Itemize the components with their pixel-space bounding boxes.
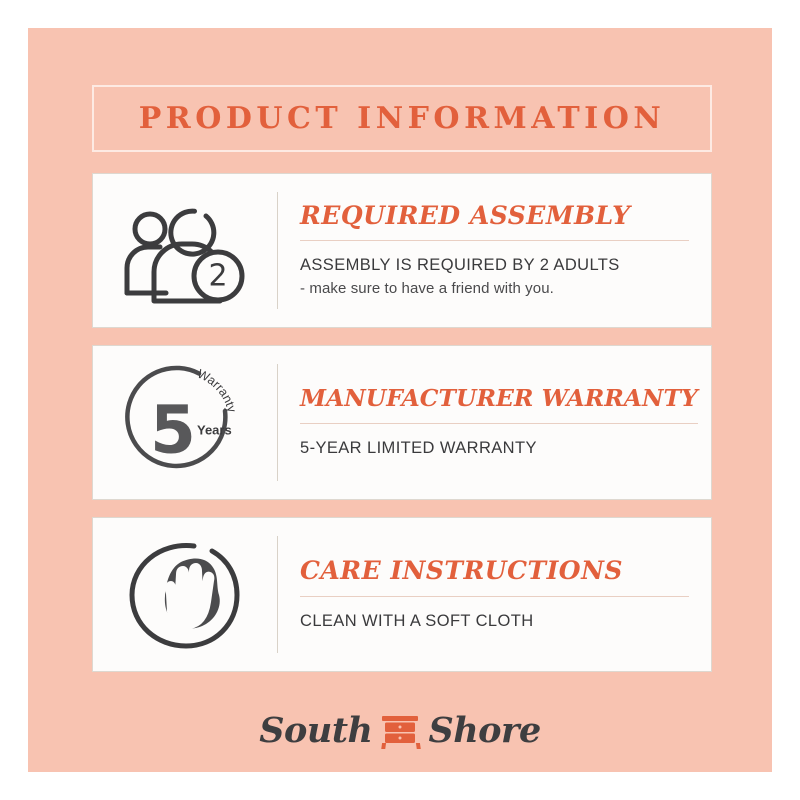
nightstand-dresser-icon <box>378 708 422 752</box>
info-card-care-instructions: CARE INSTRUCTIONS CLEAN WITH A SOFT CLOT… <box>92 517 712 672</box>
icon-cell: 2 <box>93 174 277 327</box>
card-text: MANUFACTURER WARRANTY 5-YEAR LIMITED WAR… <box>278 346 720 499</box>
card-body-main: CLEAN WITH A SOFT CLOTH <box>300 610 689 632</box>
warranty-years-label: Years <box>197 422 232 437</box>
card-body-main: ASSEMBLY IS REQUIRED BY 2 ADULTS <box>300 254 689 276</box>
card-text: CARE INSTRUCTIONS CLEAN WITH A SOFT CLOT… <box>278 518 711 671</box>
hand-with-cloth-care-icon <box>124 538 246 652</box>
logo-word-south: South <box>259 710 372 751</box>
icon-cell: 5 Years Warranty <box>93 346 277 499</box>
card-heading: MANUFACTURER WARRANTY <box>300 386 698 412</box>
icon-cell <box>93 518 277 671</box>
info-card-manufacturer-warranty: 5 Years Warranty MANUFACTURER WARRANTY 5… <box>92 345 712 500</box>
logo-word-shore: Shore <box>428 710 540 751</box>
card-body-sub: - make sure to have a friend with you. <box>300 278 689 299</box>
product-information-page: PRODUCT INFORMATION <box>28 28 772 772</box>
card-heading: CARE INSTRUCTIONS <box>300 557 689 585</box>
heading-rule <box>300 240 689 241</box>
assembly-people-count: 2 <box>208 258 227 293</box>
page-title: PRODUCT INFORMATION <box>139 101 666 136</box>
card-heading: REQUIRED ASSEMBLY <box>300 202 689 230</box>
five-year-warranty-icon: 5 Years Warranty <box>121 364 249 482</box>
heading-rule <box>300 423 698 424</box>
heading-rule <box>300 596 689 597</box>
two-people-assembly-icon: 2 <box>119 197 251 305</box>
card-body-main: 5-YEAR LIMITED WARRANTY <box>300 437 698 459</box>
brand-logo: South Shore <box>28 688 772 772</box>
warranty-arc-label: Warranty <box>195 366 239 414</box>
warranty-years-number: 5 <box>150 391 196 468</box>
info-card-required-assembly: 2 REQUIRED ASSEMBLY ASSEMBLY IS REQUIRED… <box>92 173 712 328</box>
card-text: REQUIRED ASSEMBLY ASSEMBLY IS REQUIRED B… <box>278 174 711 327</box>
page-title-box: PRODUCT INFORMATION <box>92 85 712 152</box>
